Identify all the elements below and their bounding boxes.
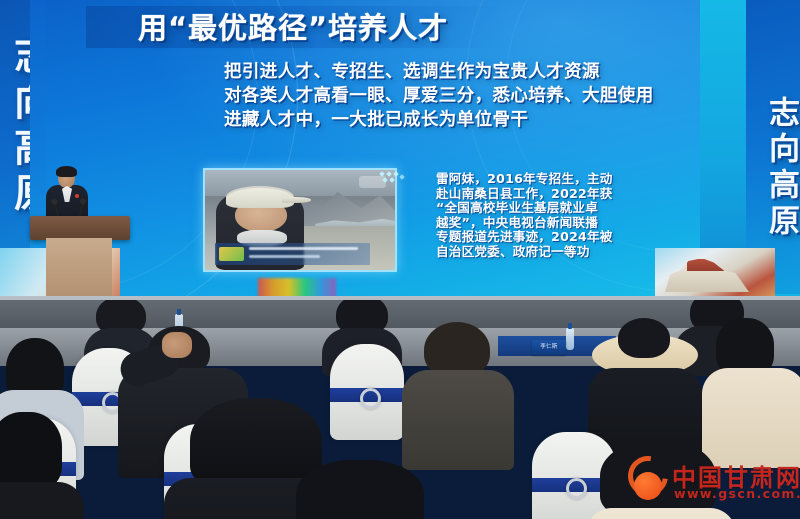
name-card: 李仁斯 — [532, 340, 566, 355]
lapel-pin-icon — [75, 194, 79, 198]
paragraph-line-1: 雷阿妹，2016年专招生，主动 — [436, 172, 658, 187]
conference-photo: 志向高原 英才汇聚 用“最优路径”培养人才 把引进人才、专招生、选调生作为宝贵人… — [0, 0, 800, 519]
name-card-text: 李仁斯 — [532, 340, 566, 355]
water-bottle — [566, 328, 574, 350]
watermark-url: www.gscn.com.cn — [674, 486, 800, 501]
paragraph-line-3: “全国高校毕业生基层就业卓 — [436, 201, 658, 216]
slide-body-text: 把引进人才、专招生、选调生作为宝贵人才资源 对各类人才高看一眼、厚爱三分，悉心培… — [224, 60, 694, 132]
chair — [330, 344, 404, 440]
slide-body-line-1: 把引进人才、专招生、选调生作为宝贵人才资源 — [224, 60, 694, 84]
potala-palace-image — [655, 248, 775, 300]
watermark: 中国甘肃网 www.gscn.com.cn — [628, 452, 796, 508]
gansu-net-logo-icon — [628, 456, 674, 502]
paragraph-line-2: 赴山南桑日县工作，2022年获 — [436, 187, 658, 202]
diamond-dots-icon — [380, 172, 406, 184]
slide-paragraph: 雷阿妹，2016年专招生，主动 赴山南桑日县工作，2022年获 “全国高校毕业生… — [436, 172, 658, 260]
slide-body-line-2: 对各类人才高看一眼、厚爱三分，悉心培养、大胆使用 — [224, 84, 694, 108]
paragraph-line-5: 专题报道先进事迹，2024年被 — [436, 230, 658, 245]
slide-title: 用“最优路径”培养人才 — [138, 8, 558, 48]
banner-text-right: 志向高原 — [750, 96, 796, 240]
slide-body-line-3: 进藏人才中，一大批已成长为单位骨干 — [224, 108, 694, 132]
